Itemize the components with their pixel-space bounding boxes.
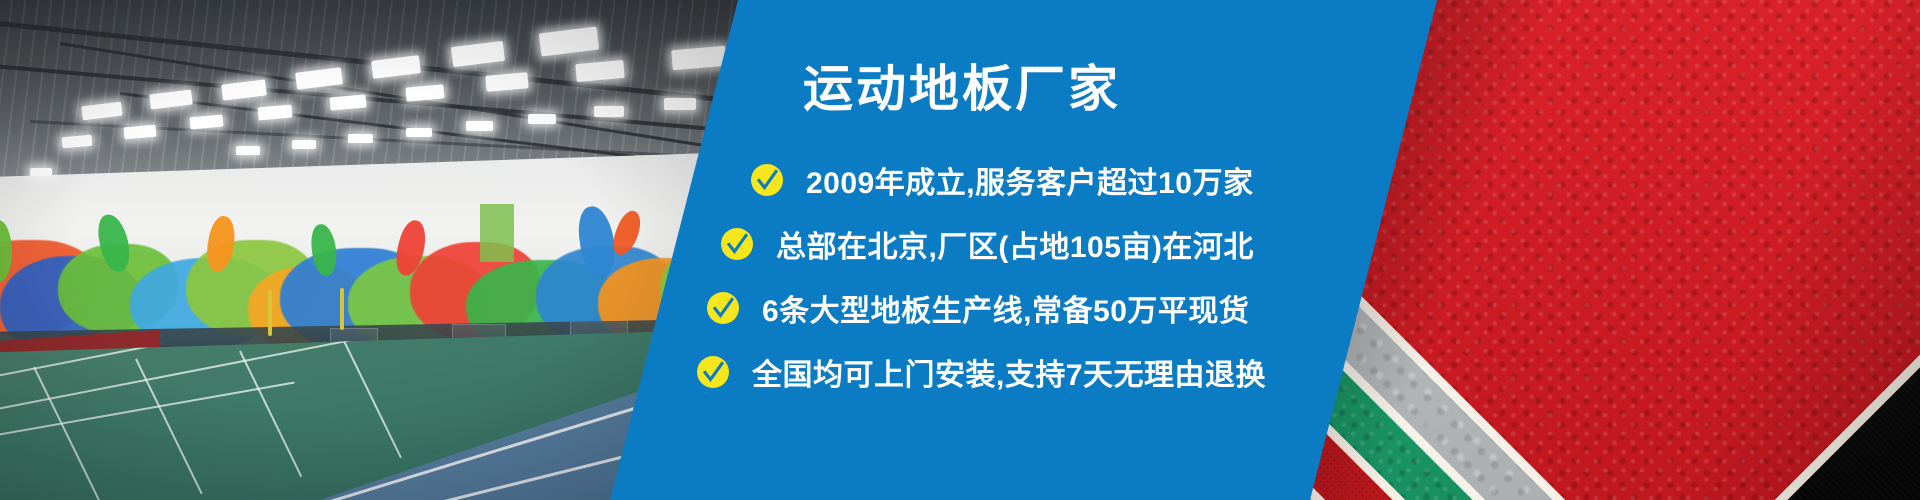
list-item-label: 全国均可上门安装,支持7天无理由退换 [752, 350, 1266, 394]
ceiling-light [30, 168, 52, 176]
ceiling-light [236, 146, 260, 155]
ceiling-light [406, 128, 432, 137]
check-circle-icon [750, 163, 784, 197]
list-item-label: 6条大型地板生产线,常备50万平现货 [762, 286, 1249, 330]
sports-flooring-banner: 运动地板厂家 2009年成立,服务客户超过10万家 总部在北京,厂区(占地105… [0, 0, 1920, 500]
list-item-label: 总部在北京,厂区(占地105亩)在河北 [776, 222, 1254, 266]
panel-content: 运动地板厂家 2009年成立,服务客户超过10万家 总部在北京,厂区(占地105… [612, 0, 1312, 500]
ceiling-light [466, 121, 493, 131]
badminton-net-post [340, 288, 344, 330]
feature-list: 2009年成立,服务客户超过10万家 总部在北京,厂区(占地105亩)在河北 6… [612, 148, 1312, 404]
check-circle-icon [720, 227, 754, 261]
check-circle-icon [696, 355, 730, 389]
list-item: 2009年成立,服务客户超过10万家 [612, 148, 1312, 212]
page-title: 运动地板厂家 [612, 62, 1312, 117]
list-item: 6条大型地板生产线,常备50万平现货 [612, 276, 1312, 340]
list-item: 总部在北京,厂区(占地105亩)在河北 [612, 212, 1312, 276]
ceiling-light [528, 114, 556, 124]
ceiling-light [348, 134, 373, 143]
ceiling-light [292, 140, 316, 149]
badminton-net-post [268, 290, 272, 336]
mural-signboard [480, 204, 514, 262]
list-item-label: 2009年成立,服务客户超过10万家 [806, 158, 1253, 202]
court-line [33, 367, 101, 500]
court-line [135, 359, 203, 495]
check-circle-icon [706, 291, 740, 325]
list-item: 全国均可上门安装,支持7天无理由退换 [612, 340, 1312, 404]
court-line [239, 351, 302, 478]
court-line [343, 341, 402, 459]
